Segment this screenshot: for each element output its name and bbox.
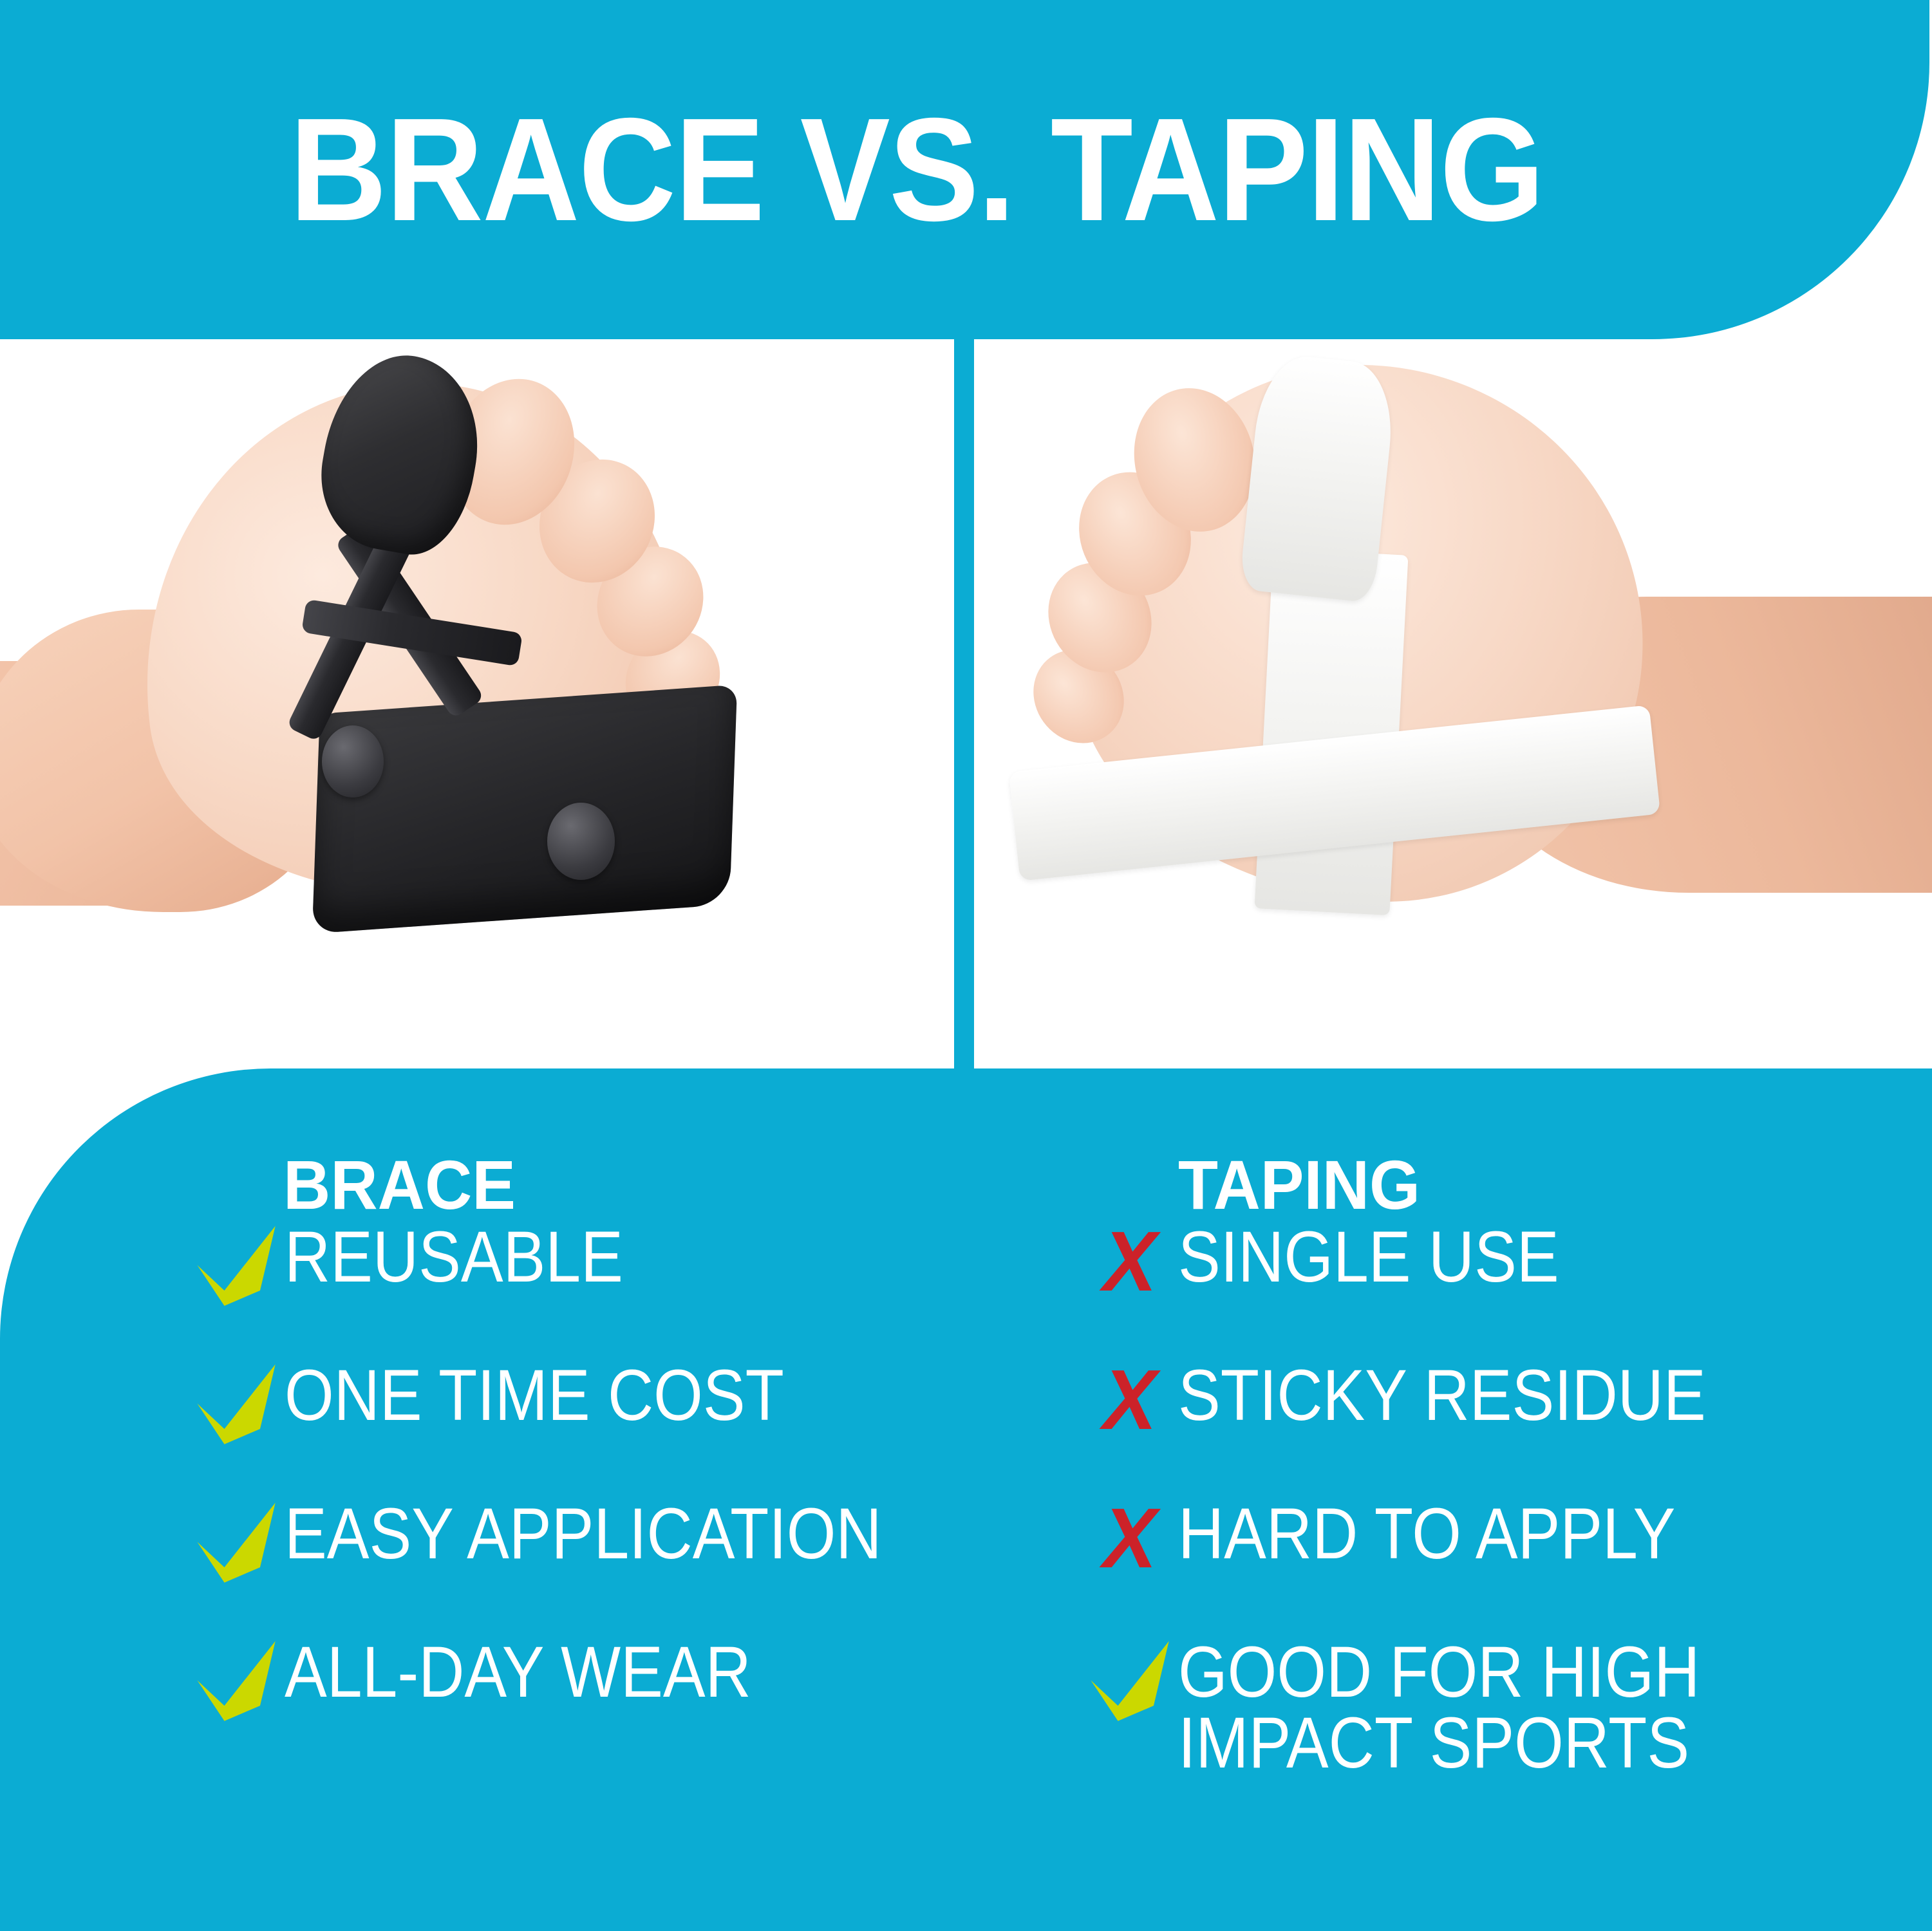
list-item-label: ALL-DAY WEAR — [285, 1636, 815, 1708]
check-icon — [188, 1636, 285, 1724]
column-heading-taping: TAPING — [1178, 1150, 1436, 1220]
tape-strip — [1254, 548, 1408, 915]
x-icon-glyph: X — [1103, 1219, 1157, 1304]
x-icon-glyph: X — [1103, 1357, 1157, 1442]
photo-divider — [954, 339, 974, 1112]
list-item-label: HARD TO APPLY — [1178, 1497, 1743, 1569]
x-icon: X — [1082, 1497, 1178, 1586]
taping-photo — [974, 339, 1932, 1112]
list-item: GOOD FOR HIGH IMPACT SPORTS — [1082, 1636, 1932, 1774]
photo-comparison-area — [0, 339, 1932, 1112]
column-heading-brace: BRACE — [283, 1150, 530, 1220]
check-icon — [188, 1359, 285, 1448]
comparison-panel: BRACE REUSABLE ONE TIME COST — [0, 1068, 1932, 1931]
infographic-canvas: BRACE VS. TAPING — [0, 0, 1932, 1931]
list-item-label: EASY APPLICATION — [285, 1497, 963, 1569]
feature-list-taping: X SINGLE USE X STICKY RESIDUE X HARD TO … — [1043, 1220, 1932, 1774]
list-item-label: ONE TIME COST — [285, 1359, 852, 1431]
x-icon: X — [1082, 1220, 1178, 1309]
list-item-label: GOOD FOR HIGH IMPACT SPORTS — [1178, 1636, 1771, 1778]
list-item: X STICKY RESIDUE — [1082, 1359, 1932, 1497]
check-icon — [1082, 1636, 1178, 1724]
list-item-label: STICKY RESIDUE — [1178, 1359, 1778, 1431]
brace-adjuster-disc — [547, 803, 615, 880]
header-banner: BRACE VS. TAPING — [0, 0, 1929, 339]
brace-adjuster-disc — [322, 725, 384, 798]
check-icon — [188, 1497, 285, 1586]
list-item-label: SINGLE USE — [1178, 1220, 1611, 1292]
x-icon-glyph: X — [1103, 1496, 1157, 1581]
check-icon — [188, 1220, 285, 1309]
x-icon: X — [1082, 1359, 1178, 1448]
list-item: X SINGLE USE — [1082, 1220, 1932, 1359]
brace-photo — [0, 339, 954, 1112]
brace-cuff — [312, 684, 737, 933]
page-title-text: BRACE VS. TAPING — [290, 97, 1544, 243]
page-title: BRACE VS. TAPING — [0, 97, 1833, 243]
list-item: X HARD TO APPLY — [1082, 1497, 1932, 1636]
list-item-label: REUSABLE — [285, 1220, 670, 1292]
